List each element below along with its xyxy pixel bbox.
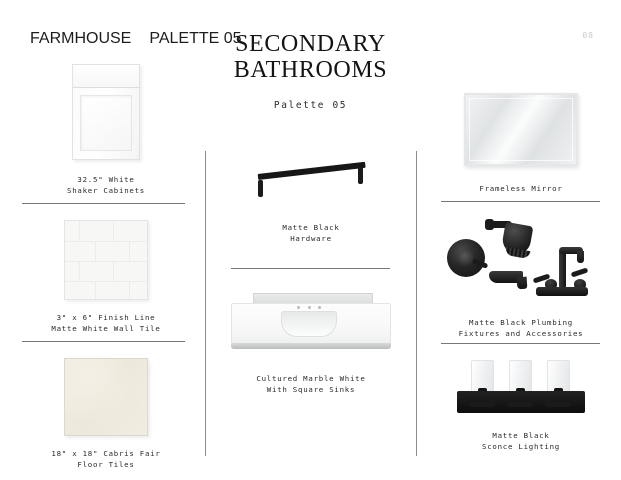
shower-valve-trim-icon bbox=[447, 239, 485, 277]
matte-black-plumbing-fixtures-icon bbox=[441, 213, 601, 309]
faucet-handle-right bbox=[571, 267, 589, 277]
material-item-cabinets[interactable]: 32.5" White Shaker Cabinets bbox=[22, 60, 190, 196]
material-item-sconce[interactable]: Matte Black Sconce Lighting bbox=[436, 356, 606, 452]
cabinet-drawer-front bbox=[73, 65, 139, 88]
caption-plumbing: Matte Black Plumbing Fixtures and Access… bbox=[436, 317, 606, 339]
cabinet-door-panel bbox=[80, 95, 132, 151]
caption-sconce: Matte Black Sconce Lighting bbox=[436, 430, 606, 452]
floor-tile-swatch bbox=[22, 356, 190, 436]
matte-white-subway-wall-tile-icon bbox=[64, 220, 148, 300]
sconce-arm-1 bbox=[469, 402, 495, 407]
section-divider-right-1 bbox=[441, 201, 600, 202]
faucet-riser bbox=[559, 249, 566, 289]
column-divider-right bbox=[416, 151, 417, 456]
white-shaker-cabinet-door-icon bbox=[72, 64, 140, 160]
vanity-faucet-holes bbox=[297, 306, 321, 309]
cabris-fair-floor-tile-icon bbox=[64, 358, 148, 436]
faucet-escutcheon-plate bbox=[536, 287, 588, 296]
faucet-spout-drop bbox=[577, 251, 584, 263]
frameless-mirror-icon bbox=[464, 93, 578, 166]
wall-tile-swatch bbox=[22, 218, 190, 300]
material-item-plumbing[interactable]: Matte Black Plumbing Fixtures and Access… bbox=[436, 212, 606, 339]
material-item-hardware[interactable]: Matte Black Hardware bbox=[226, 152, 396, 244]
section-divider-center-1 bbox=[231, 268, 390, 269]
section-divider-left-2 bbox=[22, 341, 185, 342]
caption-floor-tile: 18" x 18" Cabris Fair Floor Tiles bbox=[22, 448, 190, 470]
caption-wall-tile: 3" x 6" Finish Line Matte White Wall Til… bbox=[22, 312, 190, 334]
sconce-arm-3 bbox=[545, 402, 571, 407]
material-item-floor-tile[interactable]: 18" x 18" Cabris Fair Floor Tiles bbox=[22, 356, 190, 470]
hardware-swatch bbox=[226, 152, 396, 204]
bar-pull-post-right bbox=[358, 167, 363, 184]
caption-vanity-top: Cultured Marble White With Square Sinks bbox=[226, 373, 396, 395]
sconce-swatch bbox=[436, 356, 606, 416]
caption-hardware: Matte Black Hardware bbox=[226, 222, 396, 244]
cabinet-swatch bbox=[22, 60, 190, 160]
matte-black-sconce-light-bar-icon bbox=[451, 358, 591, 416]
column-divider-left bbox=[205, 151, 206, 456]
section-divider-right-2 bbox=[441, 343, 600, 344]
matte-black-bar-pull-icon bbox=[253, 156, 369, 204]
bar-pull-post-left bbox=[258, 180, 263, 197]
vanity-swatch bbox=[226, 285, 396, 357]
material-item-mirror[interactable]: Frameless Mirror bbox=[436, 88, 606, 194]
plumbing-swatch bbox=[436, 212, 606, 309]
caption-cabinets: 32.5" White Shaker Cabinets bbox=[22, 174, 190, 196]
bar-pull-grip bbox=[258, 162, 366, 180]
cultured-marble-vanity-top-icon bbox=[231, 289, 391, 357]
material-item-vanity-top[interactable]: Cultured Marble White With Square Sinks bbox=[226, 285, 396, 395]
tub-spout-tip bbox=[517, 277, 528, 290]
section-divider-left-1 bbox=[22, 203, 185, 204]
vanity-square-sink-basin bbox=[281, 311, 337, 337]
vanity-front-edge bbox=[231, 343, 391, 349]
mirror-swatch bbox=[436, 88, 606, 166]
material-item-wall-tile[interactable]: 3" x 6" Finish Line Matte White Wall Til… bbox=[22, 218, 190, 334]
sconce-arm-2 bbox=[507, 402, 533, 407]
caption-mirror: Frameless Mirror bbox=[436, 183, 606, 194]
